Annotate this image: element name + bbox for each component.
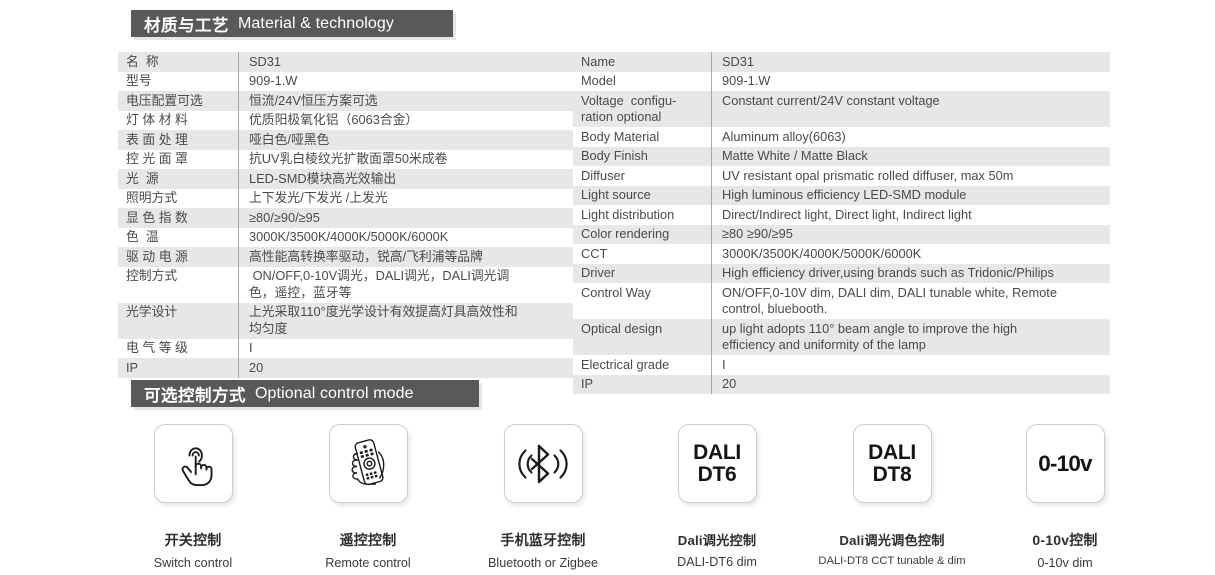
table-row: 名 称SD31	[118, 52, 579, 72]
table-row: 电 气 等 级I	[118, 339, 579, 359]
spec-value: 高性能高转换率驱动，锐高/飞利浦等品牌	[239, 247, 580, 267]
spec-key: 型号	[118, 72, 239, 92]
section-header-control-mode: 可选控制方式 Optional control mode	[131, 380, 479, 407]
table-row: 色 温3000K/3500K/4000K/5000K/6000K	[118, 228, 579, 248]
dali-label-line-1: DALI	[868, 441, 916, 464]
table-row: Optical designup light adopts 110° beam …	[573, 319, 1110, 355]
spec-value: LED-SMD模块高光效输出	[239, 169, 580, 189]
spec-key: Diffuser	[573, 166, 712, 186]
spec-value: 恒流/24V恒压方案可选	[239, 91, 580, 111]
table-row: 驱 动 电 源高性能高转换率驱动，锐高/飞利浦等品牌	[118, 247, 579, 267]
control-mode-list: 开关控制Switch control	[118, 424, 1118, 569]
section-header-material-en: Material & technology	[238, 15, 394, 33]
spec-key: 色 温	[118, 228, 239, 248]
spec-value: 3000K/3500K/4000K/5000K/6000K	[712, 244, 1111, 264]
dali-label-line-2: DT6	[693, 464, 741, 486]
section-header-control-mode-en: Optional control mode	[255, 385, 414, 403]
table-row: 型号909-1.W	[118, 72, 579, 92]
section-header-control-mode-zh: 可选控制方式	[144, 382, 246, 406]
spec-value: 抗UV乳白棱纹光扩散面罩50米成卷	[239, 150, 580, 170]
spec-value: High luminous efficiency LED-SMD module	[712, 186, 1111, 206]
table-row: Body MaterialAluminum alloy(6063)	[573, 127, 1110, 147]
spec-value: 909-1.W	[239, 72, 580, 92]
spec-key: 显 色 指 数	[118, 208, 239, 228]
spec-key: Light source	[573, 186, 712, 206]
control-mode-item[interactable]: 开关控制Switch control	[113, 424, 273, 570]
table-row: 照明方式上下发光/下发光 /上发光	[118, 189, 579, 209]
spec-key: CCT	[573, 244, 712, 264]
table-row: 电压配置可选恒流/24V恒压方案可选	[118, 91, 579, 111]
spec-key: IP	[118, 358, 239, 378]
dali-label-line-1: DALI	[693, 441, 741, 464]
section-header-material-zh: 材质与工艺	[144, 12, 229, 36]
table-row: 光 源LED-SMD模块高光效输出	[118, 169, 579, 189]
spec-value: 20	[239, 358, 580, 378]
zero-to-ten-volt-icon: 0-10v	[1038, 451, 1092, 477]
spec-value: Aluminum alloy(6063)	[712, 127, 1111, 147]
remote-control-icon	[343, 438, 393, 490]
table-row: Control WayON/OFF,0-10V dim, DALI dim, D…	[573, 283, 1110, 319]
table-row: Electrical gradeI	[573, 355, 1110, 375]
control-mode-item[interactable]: 遥控控制Remote control	[288, 424, 448, 570]
table-row: IP20	[118, 358, 579, 378]
spec-key: Model	[573, 72, 712, 92]
control-mode-card[interactable]	[329, 424, 408, 503]
table-row: Color rendering≥80 ≥90/≥95	[573, 225, 1110, 245]
control-mode-card[interactable]: DALIDT6	[678, 424, 757, 503]
spec-value: SD31	[712, 52, 1111, 72]
table-row: Model909-1.W	[573, 72, 1110, 92]
control-mode-label-en: Switch control	[113, 556, 273, 570]
table-row: 显 色 指 数≥80/≥90/≥95	[118, 208, 579, 228]
spec-key: 光 源	[118, 169, 239, 189]
spec-key: Driver	[573, 264, 712, 284]
table-row: Body FinishMatte White / Matte Black	[573, 147, 1110, 167]
control-mode-label-en: DALI-DT6 dim	[637, 555, 797, 569]
spec-value: I	[239, 339, 580, 359]
control-mode-item[interactable]: 手机蓝牙控制Bluetooth or Zigbee	[463, 424, 623, 570]
spec-value: UV resistant opal prismatic rolled diffu…	[712, 166, 1111, 186]
control-mode-item[interactable]: 0-10v0-10v控制0-10v dim	[985, 424, 1145, 570]
control-mode-label-zh: Dali调光调色控制	[812, 530, 972, 549]
spec-value: 20	[712, 375, 1111, 395]
spec-key: Electrical grade	[573, 355, 712, 375]
table-row: 控 光 面 罩抗UV乳白棱纹光扩散面罩50米成卷	[118, 150, 579, 170]
spec-key: 光学设计	[118, 303, 239, 339]
table-row: 表 面 处 理哑白色/哑黑色	[118, 130, 579, 150]
table-row: Voltage configu- ration optionalConstant…	[573, 91, 1110, 127]
table-row: 光学设计上光采取110°度光学设计有效提高灯具高效性和 均匀度	[118, 303, 579, 339]
control-mode-label-en: Remote control	[288, 556, 448, 570]
spec-key: 电压配置可选	[118, 91, 239, 111]
dali-dt6-icon: DALIDT6	[693, 442, 741, 486]
spec-value: ON/OFF,0-10V调光，DALI调光，DALI调光调 色，遥控，蓝牙等	[239, 267, 580, 303]
control-mode-item[interactable]: DALIDT8Dali调光调色控制DALI-DT8 CCT tunable & …	[812, 424, 972, 567]
spec-table-chinese: 名 称SD31型号909-1.W电压配置可选恒流/24V恒压方案可选灯 体 材 …	[118, 52, 579, 378]
spec-key: Light distribution	[573, 205, 712, 225]
table-row: Light sourceHigh luminous efficiency LED…	[573, 186, 1110, 206]
spec-key: Voltage configu- ration optional	[573, 91, 712, 127]
spec-value: ON/OFF,0-10V dim, DALI dim, DALI tunable…	[712, 283, 1111, 319]
control-mode-label-zh: 遥控控制	[288, 530, 448, 550]
control-mode-label-zh: 0-10v控制	[985, 530, 1145, 550]
spec-value: 优质阳极氧化铝（6063合金）	[239, 111, 580, 131]
control-mode-card[interactable]	[154, 424, 233, 503]
spec-value: 3000K/3500K/4000K/5000K/6000K	[239, 228, 580, 248]
spec-value: High efficiency driver,using brands such…	[712, 264, 1111, 284]
control-mode-label-en: DALI-DT8 CCT tunable & dim	[812, 555, 972, 567]
control-mode-label-en: Bluetooth or Zigbee	[463, 556, 623, 570]
dali-label-line-2: DT8	[868, 464, 916, 486]
control-mode-card[interactable]: 0-10v	[1026, 424, 1105, 503]
spec-key: 驱 动 电 源	[118, 247, 239, 267]
spec-key: Body Finish	[573, 147, 712, 167]
control-mode-label-zh: 手机蓝牙控制	[463, 530, 623, 550]
spec-table-english: NameSD31Model909-1.WVoltage configu- rat…	[573, 52, 1110, 394]
spec-value: 上光采取110°度光学设计有效提高灯具高效性和 均匀度	[239, 303, 580, 339]
spec-key: 电 气 等 级	[118, 339, 239, 359]
spec-key: Body Material	[573, 127, 712, 147]
spec-value: up light adopts 110° beam angle to impro…	[712, 319, 1111, 355]
spec-value: Direct/Indirect light, Direct light, Ind…	[712, 205, 1111, 225]
spec-value: 哑白色/哑黑色	[239, 130, 580, 150]
spec-value: 上下发光/下发光 /上发光	[239, 189, 580, 209]
table-row: IP20	[573, 375, 1110, 395]
touch-hand-icon	[170, 439, 216, 489]
control-mode-label-en: 0-10v dim	[985, 556, 1145, 570]
table-row: Light distributionDirect/Indirect light,…	[573, 205, 1110, 225]
spec-table-chinese-body: 名 称SD31型号909-1.W电压配置可选恒流/24V恒压方案可选灯 体 材 …	[118, 52, 579, 378]
spec-key: 照明方式	[118, 189, 239, 209]
spec-key: Name	[573, 52, 712, 72]
spec-value: Matte White / Matte Black	[712, 147, 1111, 167]
table-row: DiffuserUV resistant opal prismatic roll…	[573, 166, 1110, 186]
table-row: NameSD31	[573, 52, 1110, 72]
spec-key: 控制方式	[118, 267, 239, 303]
spec-value: ≥80/≥90/≥95	[239, 208, 580, 228]
table-row: CCT3000K/3500K/4000K/5000K/6000K	[573, 244, 1110, 264]
spec-value: 909-1.W	[712, 72, 1111, 92]
spec-key: 灯 体 材 料	[118, 111, 239, 131]
table-row: 控制方式 ON/OFF,0-10V调光，DALI调光，DALI调光调 色，遥控，…	[118, 267, 579, 303]
control-mode-card[interactable]: DALIDT8	[853, 424, 932, 503]
table-row: 灯 体 材 料优质阳极氧化铝（6063合金）	[118, 111, 579, 131]
dali-dt8-icon: DALIDT8	[868, 442, 916, 486]
spec-value: ≥80 ≥90/≥95	[712, 225, 1111, 245]
spec-key: Control Way	[573, 283, 712, 319]
section-header-material: 材质与工艺 Material & technology	[131, 10, 453, 37]
bluetooth-wireless-icon	[515, 442, 571, 486]
control-mode-label-zh: 开关控制	[113, 530, 273, 550]
control-mode-label-zh: Dali调光控制	[637, 530, 797, 549]
control-mode-card[interactable]	[504, 424, 583, 503]
spec-key: 名 称	[118, 52, 239, 72]
table-row: DriverHigh efficiency driver,using brand…	[573, 264, 1110, 284]
spec-key: 控 光 面 罩	[118, 150, 239, 170]
spec-table-english-body: NameSD31Model909-1.WVoltage configu- rat…	[573, 52, 1110, 394]
spec-value: I	[712, 355, 1111, 375]
spec-key: IP	[573, 375, 712, 395]
control-mode-item[interactable]: DALIDT6Dali调光控制DALI-DT6 dim	[637, 424, 797, 569]
spec-key: 表 面 处 理	[118, 130, 239, 150]
spec-key: Color rendering	[573, 225, 712, 245]
spec-key: Optical design	[573, 319, 712, 355]
spec-value: SD31	[239, 52, 580, 72]
spec-value: Constant current/24V constant voltage	[712, 91, 1111, 127]
